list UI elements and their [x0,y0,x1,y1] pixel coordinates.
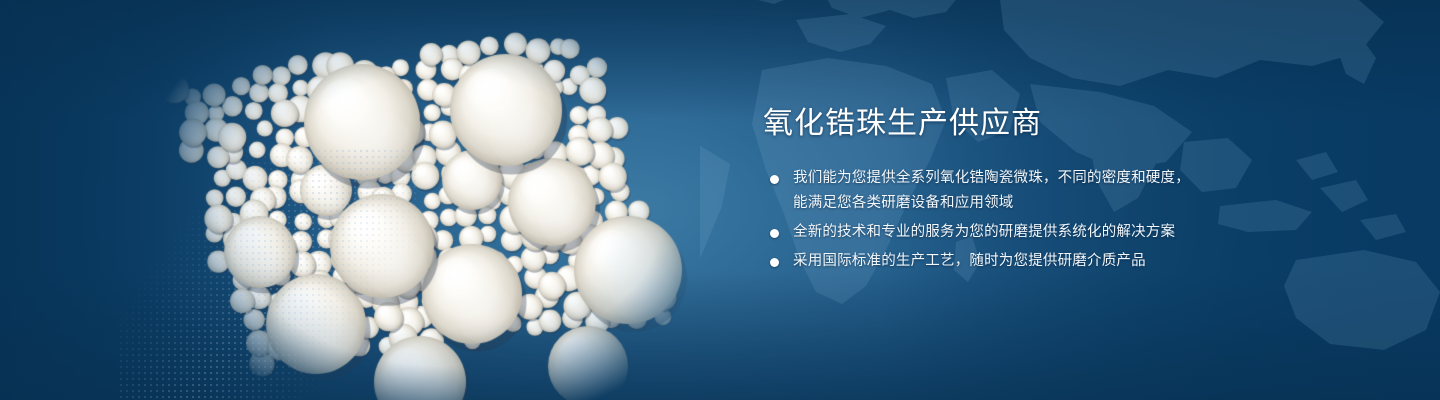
bullet-dot-icon [770,175,779,184]
list-item-line: 我们能为您提供全系列氧化锆陶瓷微珠，不同的密度和硬度， [793,166,1233,191]
product-banner: 氧化锆珠生产供应商 我们能为您提供全系列氧化锆陶瓷微珠，不同的密度和硬度， 能满… [0,0,1440,400]
list-item: 我们能为您提供全系列氧化锆陶瓷微珠，不同的密度和硬度， 能满足您各类研磨设备和应… [763,166,1233,216]
zirconia-beads-photo [120,0,740,400]
feature-list: 我们能为您提供全系列氧化锆陶瓷微珠，不同的密度和硬度， 能满足您各类研磨设备和应… [763,166,1233,274]
bullet-dot-icon [770,229,779,238]
list-item-line: 采用国际标准的生产工艺，随时为您提供研磨介质产品 [793,249,1233,274]
list-item: 采用国际标准的生产工艺，随时为您提供研磨介质产品 [763,249,1233,274]
page-title: 氧化锆珠生产供应商 [763,104,1233,144]
list-item-line: 全新的技术和专业的服务为您的研磨提供系统化的解决方案 [793,220,1233,245]
bullet-dot-icon [770,258,779,267]
banner-copy: 氧化锆珠生产供应商 我们能为您提供全系列氧化锆陶瓷微珠，不同的密度和硬度， 能满… [763,104,1233,274]
list-item-line: 能满足您各类研磨设备和应用领域 [793,191,1233,216]
list-item: 全新的技术和专业的服务为您的研磨提供系统化的解决方案 [763,220,1233,245]
